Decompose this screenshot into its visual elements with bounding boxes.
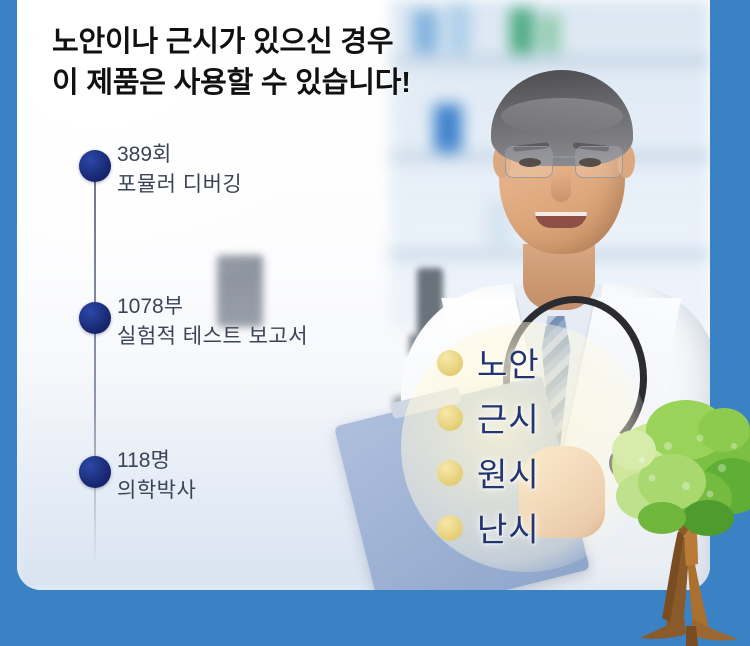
- condition-item: 노안: [437, 340, 617, 395]
- timeline-dot-icon: [79, 456, 111, 488]
- condition-label: 난시: [477, 503, 540, 551]
- stat-count: 1078부: [117, 292, 308, 322]
- condition-label: 노안: [477, 338, 540, 386]
- tree-illustration: [612, 386, 750, 646]
- timeline-dot-icon: [79, 150, 111, 182]
- bullet-dot-icon: [437, 350, 463, 376]
- stat-count: 118명: [117, 446, 196, 476]
- tree-icon: [612, 386, 750, 646]
- condition-item: 원시: [437, 450, 617, 505]
- timeline-dot-icon: [79, 302, 111, 334]
- condition-label: 원시: [477, 448, 540, 496]
- conditions-list: 노안 근시 원시 난시: [437, 340, 617, 560]
- content-card: 노안이나 근시가 있으신 경우 이 제품은 사용할 수 있습니다! 389회 포…: [17, 0, 710, 590]
- bullet-dot-icon: [437, 405, 463, 431]
- bullet-dot-icon: [437, 515, 463, 541]
- condition-item: 근시: [437, 395, 617, 450]
- stat-label: 포뮬러 디버깅: [117, 170, 242, 200]
- stat-label: 실험적 테스트 보고서: [117, 322, 308, 352]
- stats-timeline: 389회 포뮬러 디버깅 1078부 실험적 테스트 보고서 118명 의학박사: [79, 150, 409, 570]
- condition-item: 난시: [437, 505, 617, 560]
- bullet-dot-icon: [437, 460, 463, 486]
- timeline-connector: [94, 158, 96, 562]
- page-title: 노안이나 근시가 있으신 경우 이 제품은 사용할 수 있습니다!: [52, 22, 411, 104]
- stat-count: 389회: [117, 140, 242, 170]
- promotional-banner: 노안이나 근시가 있으신 경우 이 제품은 사용할 수 있습니다! 389회 포…: [0, 0, 750, 646]
- condition-label: 근시: [477, 393, 540, 441]
- stat-label: 의학박사: [117, 476, 196, 506]
